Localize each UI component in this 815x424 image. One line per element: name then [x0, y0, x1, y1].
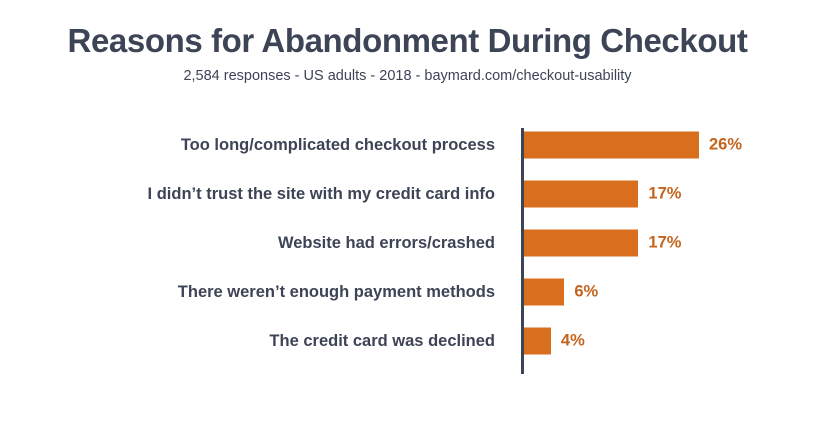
bar-value-label: 17% — [648, 233, 681, 253]
bar-track: 6% — [524, 278, 598, 305]
bar-track: 17% — [524, 180, 681, 207]
plot-area: Too long/complicated checkout process26%… — [0, 120, 815, 385]
bar-value-label: 4% — [561, 331, 585, 351]
bar-rect — [524, 278, 564, 305]
bar-row: The credit card was declined4% — [0, 316, 815, 365]
bar-category-label: The credit card was declined — [0, 331, 495, 351]
bar-row: There weren’t enough payment methods6% — [0, 267, 815, 316]
bar-value-label: 6% — [574, 282, 598, 302]
bar-series: Too long/complicated checkout process26%… — [0, 120, 815, 365]
bar-row: Website had errors/crashed17% — [0, 218, 815, 267]
bar-category-label: Too long/complicated checkout process — [0, 135, 495, 155]
bar-track: 17% — [524, 229, 681, 256]
bar-rect — [524, 131, 699, 158]
bar-rect — [524, 180, 638, 207]
bar-value-label: 17% — [648, 184, 681, 204]
bar-category-label: I didn’t trust the site with my credit c… — [0, 184, 495, 204]
chart-title: Reasons for Abandonment During Checkout — [0, 22, 815, 60]
chart-header: Reasons for Abandonment During Checkout … — [0, 22, 815, 85]
bar-category-label: There weren’t enough payment methods — [0, 282, 495, 302]
bar-row: I didn’t trust the site with my credit c… — [0, 169, 815, 218]
bar-chart-figure: Reasons for Abandonment During Checkout … — [0, 0, 815, 424]
bar-value-label: 26% — [709, 135, 742, 155]
bar-rect — [524, 327, 551, 354]
bar-category-label: Website had errors/crashed — [0, 233, 495, 253]
bar-track: 26% — [524, 131, 742, 158]
bar-row: Too long/complicated checkout process26% — [0, 120, 815, 169]
bar-rect — [524, 229, 638, 256]
chart-subtitle: 2,584 responses - US adults - 2018 - bay… — [0, 67, 815, 85]
bar-track: 4% — [524, 327, 585, 354]
